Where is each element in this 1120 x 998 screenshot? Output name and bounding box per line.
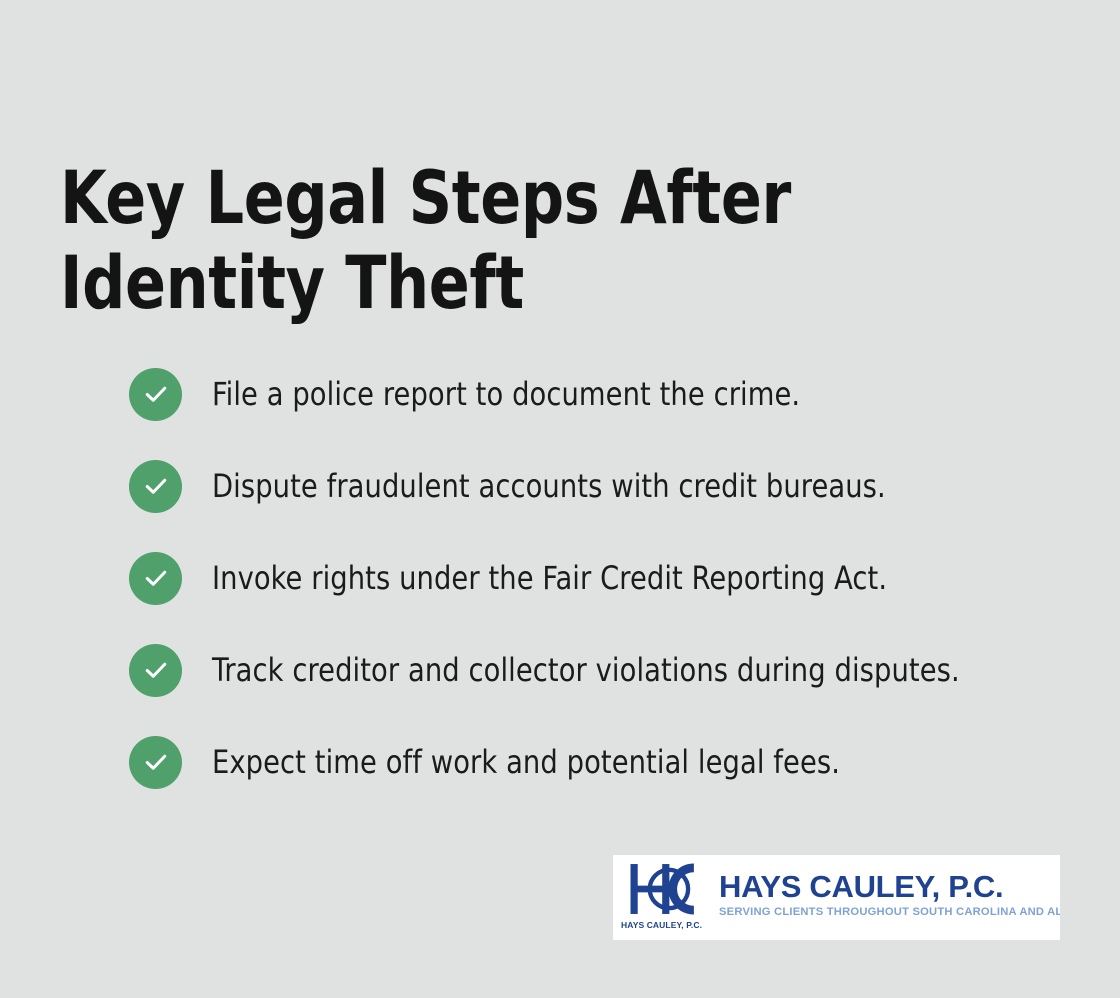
- page-title: Key Legal Steps After Identity Theft: [60, 157, 943, 326]
- list-item-label: Track creditor and collector violations …: [212, 650, 960, 690]
- check-icon: [129, 460, 182, 513]
- check-icon: [129, 736, 182, 789]
- check-icon: [129, 552, 182, 605]
- list-item: Expect time off work and potential legal…: [129, 734, 1069, 790]
- list-item-label: File a police report to document the cri…: [212, 374, 800, 414]
- checklist: File a police report to document the cri…: [129, 366, 1069, 790]
- check-icon: [129, 644, 182, 697]
- list-item: Dispute fraudulent accounts with credit …: [129, 458, 1069, 514]
- hc-monogram-icon: HAYS CAULEY, P.C.: [619, 855, 715, 940]
- list-item-label: Dispute fraudulent accounts with credit …: [212, 466, 886, 506]
- slide-canvas: Key Legal Steps After Identity Theft Fil…: [0, 0, 1120, 998]
- firm-logo: HAYS CAULEY, P.C. HAYS CAULEY, P.C. SERV…: [613, 855, 1060, 940]
- list-item: File a police report to document the cri…: [129, 366, 1069, 422]
- list-item-label: Expect time off work and potential legal…: [212, 742, 840, 782]
- list-item-label: Invoke rights under the Fair Credit Repo…: [212, 558, 887, 598]
- list-item: Track creditor and collector violations …: [129, 642, 1069, 698]
- monogram-subtext: HAYS CAULEY, P.C.: [621, 920, 702, 930]
- logo-text-block: HAYS CAULEY, P.C. SERVING CLIENTS THROUG…: [715, 871, 1060, 924]
- firm-name: HAYS CAULEY, P.C.: [719, 871, 1060, 903]
- check-icon: [129, 368, 182, 421]
- list-item: Invoke rights under the Fair Credit Repo…: [129, 550, 1069, 606]
- firm-tagline: SERVING CLIENTS THROUGHOUT SOUTH CAROLIN…: [719, 906, 1060, 918]
